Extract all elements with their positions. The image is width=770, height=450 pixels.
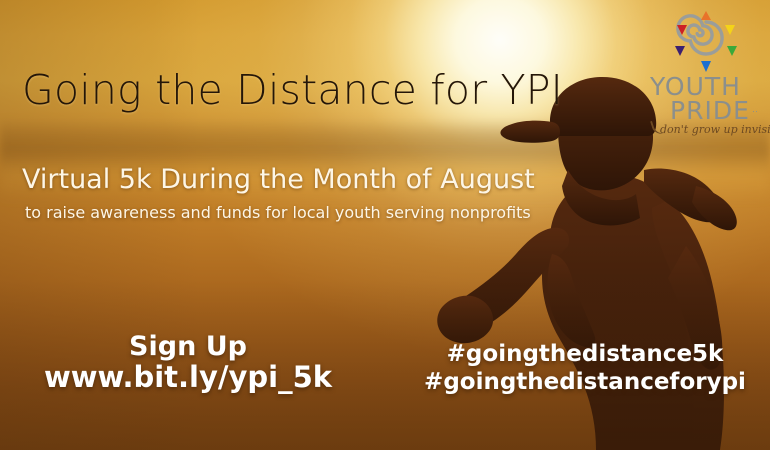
youth-pride-logo: YOUTH PRIDE ·· don't grow up invisible (648, 10, 766, 134)
event-purpose-text: to raise awareness and funds for local y… (25, 203, 531, 222)
logo-word-pride: PRIDE (670, 96, 750, 125)
spiral-sun-icon (668, 10, 744, 74)
page-title: Going the Distance for YPI (22, 66, 563, 114)
signup-label: Sign Up (18, 332, 358, 361)
hashtag-secondary: #goingthedistanceforypi (420, 368, 750, 396)
hashtag-block: #goingthedistance5k #goingthedistancefor… (420, 340, 750, 396)
event-subtitle: Virtual 5k During the Month of August (22, 164, 535, 195)
hashtag-primary: #goingthedistance5k (420, 340, 750, 368)
sun-glow (300, 0, 700, 230)
signup-url-link[interactable]: www.bit.ly/ypi_5k (18, 361, 358, 393)
signup-block: Sign Up www.bit.ly/ypi_5k (18, 332, 358, 394)
poster-canvas: Going the Distance for YPI Virtual 5k Du… (0, 0, 770, 450)
logo-slogan: don't grow up invisible (660, 123, 770, 136)
logo-dots-mark: ·· (752, 106, 758, 116)
